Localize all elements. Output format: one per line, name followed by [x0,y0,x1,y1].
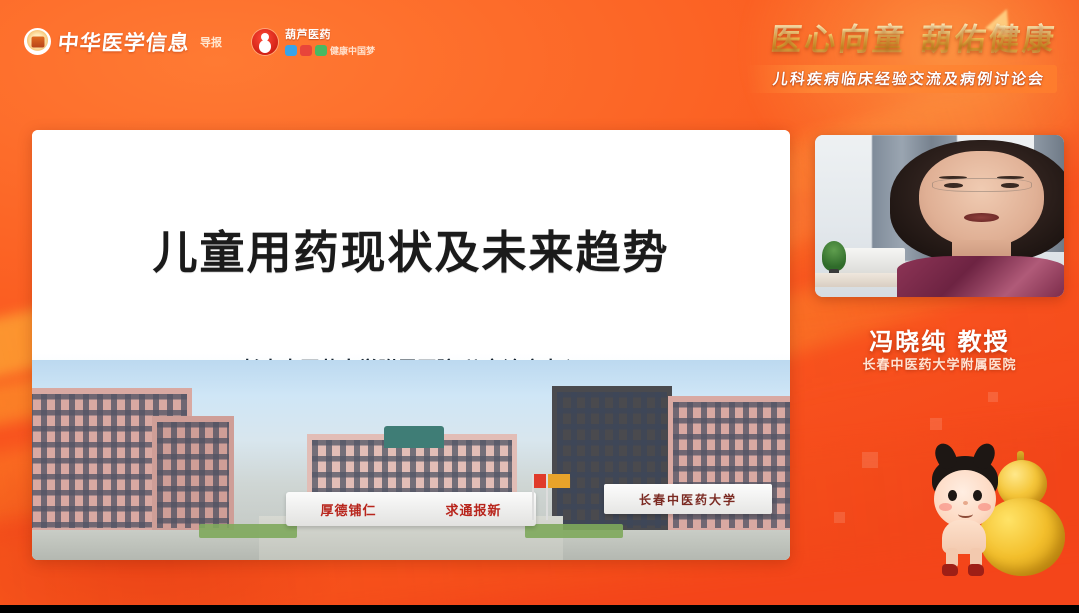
speaker-affiliation: 长春中医药大学附属医院 [815,354,1064,373]
speaker-video-feed[interactable] [815,135,1064,297]
cma-seal-icon [24,28,51,55]
cma-suffix: 导报 [200,34,222,50]
header-logo-bar: 中华医学信息 导报 葫芦医药 健康中国梦 [24,26,375,57]
campus-monument: 厚德铺仁 求通报新 [286,492,536,526]
campus-building [668,396,790,536]
gourd-logo-text: 葫芦医药 健康中国梦 [285,26,375,57]
mouth [964,213,999,222]
video-plant [822,241,846,271]
bokeh-square [988,392,998,402]
window-grid [157,422,229,528]
mascot-boot [942,564,958,576]
bokeh-square [834,512,845,523]
monument-text-right: 求通报新 [445,500,501,519]
campus-building [152,416,234,536]
chip-green-icon [315,45,327,56]
speaker-clothing [897,256,1064,297]
presentation-slide[interactable]: 儿童用药现状及未来趋势 长春中医药大学附属医院 儿童诊疗中心 长春中医药大学附属… [32,130,790,560]
slide-title: 儿童用药现状及未来趋势 [32,216,790,281]
gate-sign-text: 长春中医药大学 [639,491,737,508]
flag-icon [548,474,570,488]
mascot-nose [963,501,968,505]
broadcast-stage: 中华医学信息 导报 葫芦医药 健康中国梦 医心向童 葫佑健康 儿科疾病临床经验交… [0,0,1079,613]
speaker-portrait [890,140,1064,297]
mascot-child [920,450,1016,576]
gourd-tagline: 健康中国梦 [330,44,375,57]
speaker-name: 冯晓纯 教授 [815,322,1064,357]
chip-blue-icon [285,45,297,56]
mascot-eye [948,490,957,501]
gourd-tagline-row: 健康中国梦 [285,44,375,57]
logo-cma: 中华医学信息 导报 [24,27,222,57]
campus-photo: 厚德铺仁 求通报新 长春中医药大学 [32,360,790,560]
hair-tuft [970,440,998,472]
monument-text-left: 厚德铺仁 [320,500,376,519]
cma-wordmark: 中华医学信息 [56,27,191,57]
event-subtitle-band: 儿科疾病临床经验交流及病例讨论会 [747,65,1057,93]
flagpole [532,474,534,520]
hair-tuft [931,440,959,472]
campus-building-crown [384,426,444,448]
bokeh-square [930,418,942,430]
mascot-blush [978,503,991,511]
flagpole [546,474,548,520]
gourd-wordmark: 葫芦医药 [285,26,375,42]
campus-lawn [525,524,624,538]
gourd-badge-icon [252,29,278,55]
bokeh-square [862,452,878,468]
logo-gourd-pharma: 葫芦医药 健康中国梦 [252,26,375,57]
event-title: 医心向童 葫佑健康 [744,14,1060,59]
speaker-face [919,151,1044,248]
mascot-blush [939,503,952,511]
chip-red-icon [300,45,312,56]
campus-lawn [199,524,298,538]
event-title-block: 医心向童 葫佑健康 儿科疾病临床经验交流及病例讨论会 [747,14,1057,93]
calabash-boy-mascot [912,440,1067,590]
mascot-mouth [958,510,973,518]
letterbox-bar [0,605,1079,613]
mascot-boot [968,564,984,576]
event-subtitle: 儿科疾病临床经验交流及病例讨论会 [772,68,1047,89]
campus-gate-sign: 长春中医药大学 [604,484,772,514]
mascot-eye [973,490,982,501]
glasses-icon [932,178,1032,192]
